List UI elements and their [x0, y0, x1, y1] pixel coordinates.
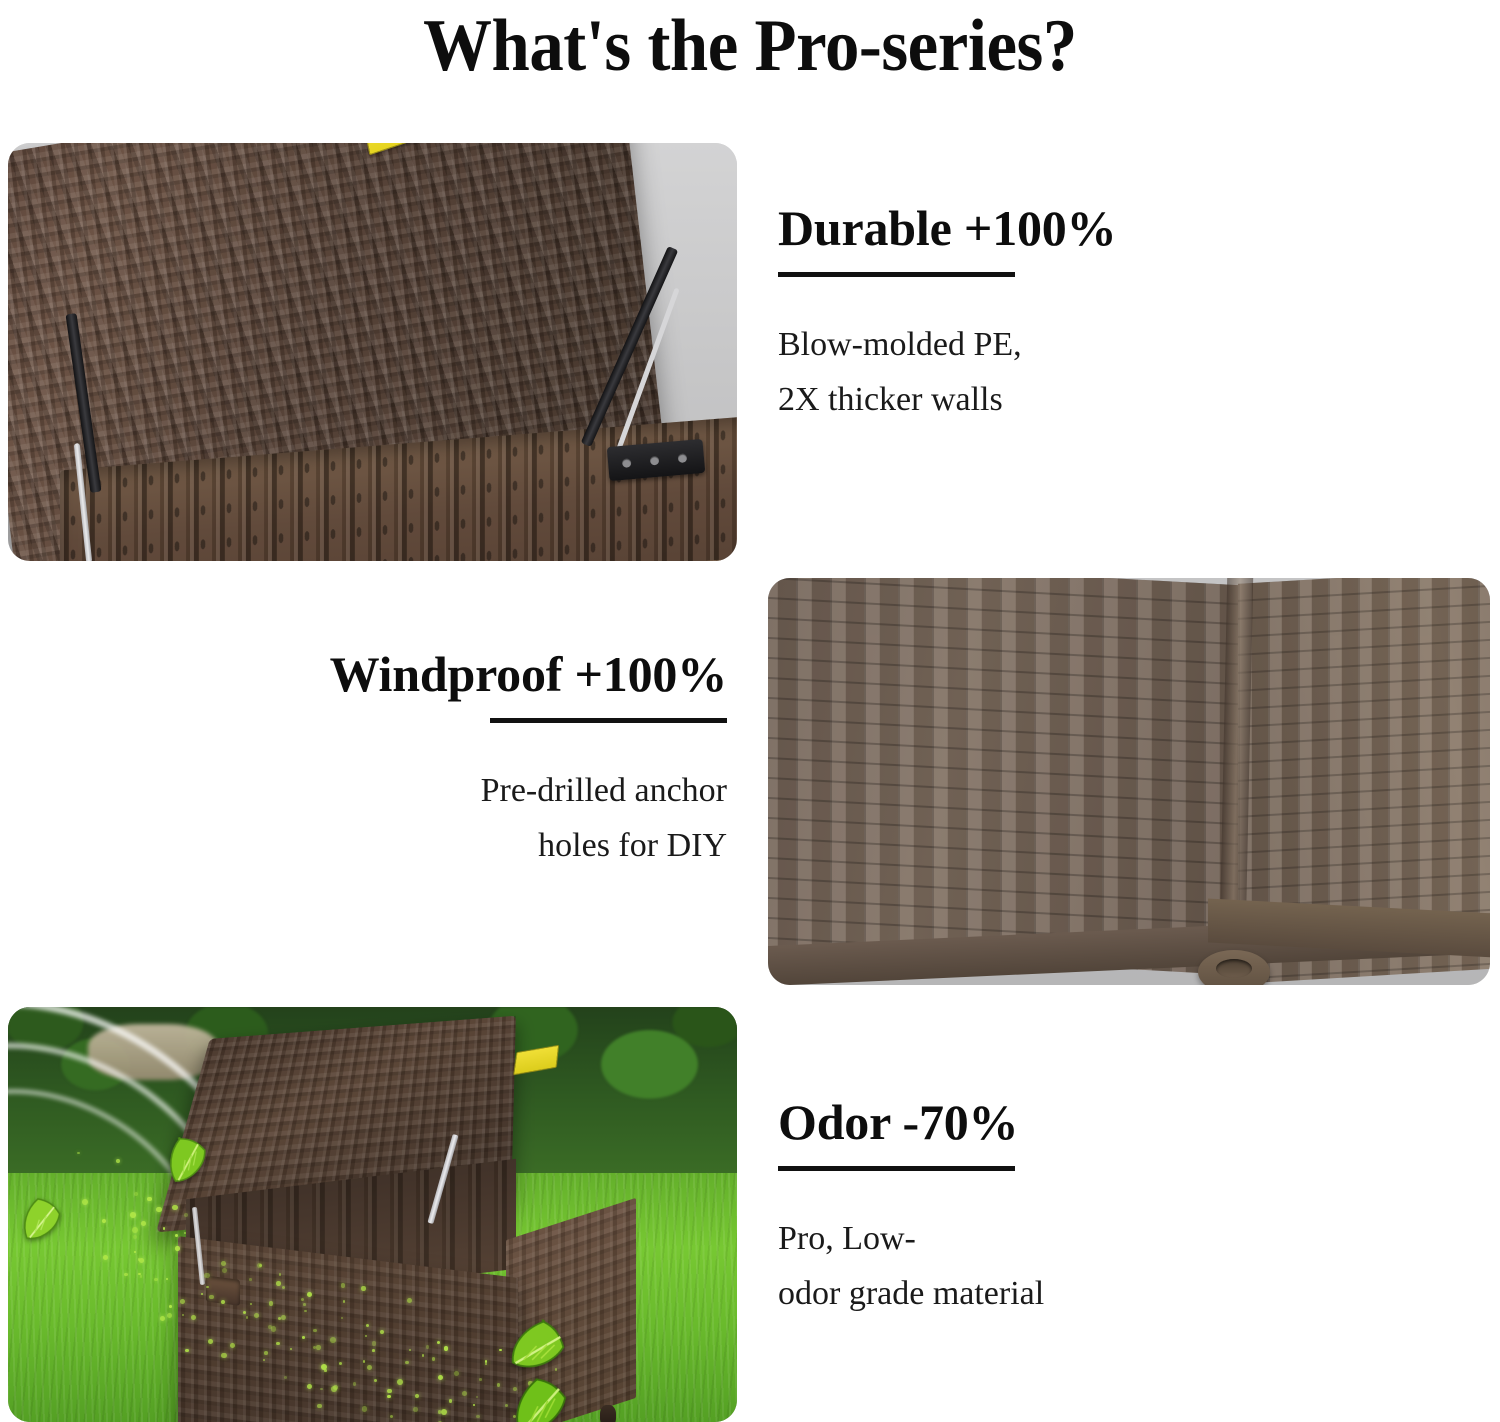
box-side-left: [768, 578, 1242, 975]
feature-windproof-line1: Pre-drilled anchor: [280, 763, 727, 818]
leaf-icon: [507, 1376, 570, 1422]
feature-durable-heading: Durable +100%: [778, 202, 1116, 255]
box-wheel: [600, 1405, 616, 1422]
fresh-air-particles: [98, 1202, 568, 1422]
image-wicker-corner-closeup: [768, 578, 1490, 985]
feature-durable-underline: [778, 272, 1015, 277]
feature-odor-heading: Odor -70%: [778, 1096, 1044, 1149]
leaf-icon: [14, 1194, 68, 1248]
feature-windproof-underline: [490, 718, 727, 723]
page-title: What's the Pro-series?: [53, 0, 1448, 92]
feature-durable-line1: Blow-molded PE,: [778, 317, 1116, 372]
feature-windproof-body: Pre-drilled anchor holes for DIY: [280, 763, 727, 873]
feature-windproof-heading: Windproof +100%: [280, 648, 727, 701]
feature-odor-underline: [778, 1166, 1015, 1171]
image-open-deck-box: [8, 143, 737, 561]
image-deck-box-on-lawn: [8, 1007, 737, 1422]
feature-odor-body: Pro, Low- odor grade material: [778, 1211, 1044, 1321]
feature-durable-body: Blow-molded PE, 2X thicker walls: [778, 317, 1116, 427]
feature-windproof-line2: holes for DIY: [280, 818, 727, 873]
basket-weave-texture: [768, 578, 1242, 975]
feature-odor: Odor -70% Pro, Low- odor grade material: [778, 1096, 1044, 1321]
feature-durable-line2: 2X thicker walls: [778, 372, 1116, 427]
feature-durable: Durable +100% Blow-molded PE, 2X thicker…: [778, 202, 1116, 427]
feature-odor-line2: odor grade material: [778, 1266, 1044, 1321]
feature-windproof: Windproof +100% Pre-drilled anchor holes…: [280, 648, 727, 873]
feature-odor-line1: Pro, Low-: [778, 1211, 1044, 1266]
